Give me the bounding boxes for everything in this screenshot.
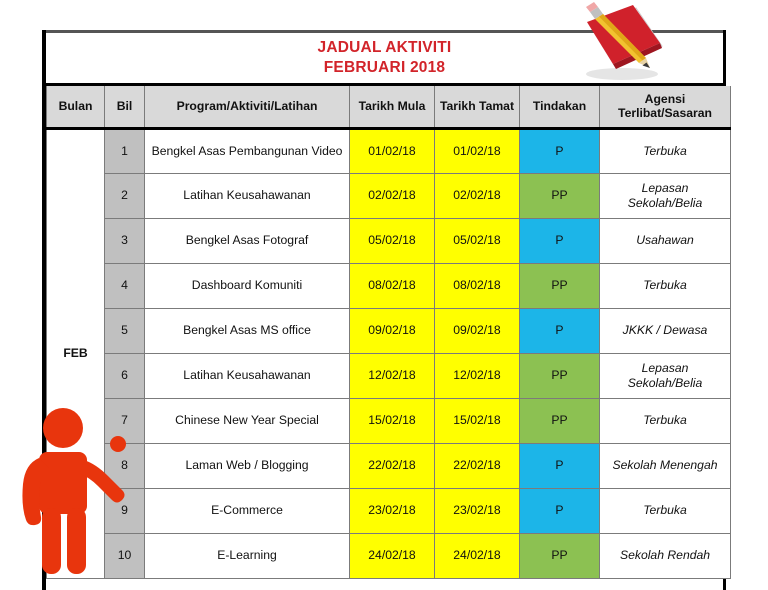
cell-tarikh-tamat: 02/02/18 — [435, 173, 520, 218]
cell-bil: 6 — [105, 353, 145, 398]
cell-tindakan: P — [520, 308, 600, 353]
cell-agensi: Terbuka — [600, 263, 731, 308]
cell-bulan-feb: FEB — [47, 128, 105, 578]
cell-bil: 1 — [105, 128, 145, 173]
cell-agensi: Sekolah Menengah — [600, 443, 731, 488]
cell-tindakan: PP — [520, 263, 600, 308]
cell-tarikh-tamat: 12/02/18 — [435, 353, 520, 398]
cell-bil: 4 — [105, 263, 145, 308]
cell-tindakan: PP — [520, 398, 600, 443]
schedule-table-frame: JADUAL AKTIVITI FEBRUARI 2018 Bulan Bil … — [42, 30, 726, 590]
cell-program: Bengkel Asas MS office — [145, 308, 350, 353]
schedule-table-body: FEB1Bengkel Asas Pembangunan Video01/02/… — [47, 128, 731, 578]
table-row[interactable]: 7Chinese New Year Special15/02/1815/02/1… — [47, 398, 731, 443]
cell-tarikh-mula: 01/02/18 — [350, 128, 435, 173]
cell-tindakan: P — [520, 218, 600, 263]
table-row[interactable]: 10E-Learning24/02/1824/02/18PPSekolah Re… — [47, 533, 731, 578]
page-title-line1: JADUAL AKTIVITI — [318, 39, 452, 57]
cell-program: Dashboard Komuniti — [145, 263, 350, 308]
cell-agensi: Terbuka — [600, 128, 731, 173]
column-header-tindakan: Tindakan — [520, 86, 600, 128]
cell-bil: 7 — [105, 398, 145, 443]
column-header-agensi-line2: Terlibat/Sasaran — [618, 106, 712, 120]
cell-tarikh-tamat: 08/02/18 — [435, 263, 520, 308]
table-row[interactable]: 8Laman Web / Blogging22/02/1822/02/18PSe… — [47, 443, 731, 488]
cell-tindakan: PP — [520, 173, 600, 218]
cell-tarikh-tamat: 22/02/18 — [435, 443, 520, 488]
column-header-bulan: Bulan — [47, 86, 105, 128]
cell-bil: 9 — [105, 488, 145, 533]
cell-tarikh-mula: 23/02/18 — [350, 488, 435, 533]
cell-program: E-Commerce — [145, 488, 350, 533]
cell-bil: 3 — [105, 218, 145, 263]
column-header-tarikh-mula: Tarikh Mula — [350, 86, 435, 128]
cell-tarikh-mula: 12/02/18 — [350, 353, 435, 398]
cell-program: E-Learning — [145, 533, 350, 578]
cell-agensi: Lepasan Sekolah/Belia — [600, 173, 731, 218]
cell-tindakan: P — [520, 128, 600, 173]
cell-program: Bengkel Asas Pembangunan Video — [145, 128, 350, 173]
cell-bil: 2 — [105, 173, 145, 218]
title-band: JADUAL AKTIVITI FEBRUARI 2018 — [46, 30, 723, 86]
cell-program: Chinese New Year Special — [145, 398, 350, 443]
cell-tindakan: PP — [520, 353, 600, 398]
cell-tarikh-mula: 09/02/18 — [350, 308, 435, 353]
cell-tarikh-mula: 24/02/18 — [350, 533, 435, 578]
cell-bil: 5 — [105, 308, 145, 353]
table-row[interactable]: 4Dashboard Komuniti08/02/1808/02/18PPTer… — [47, 263, 731, 308]
cell-agensi: Lepasan Sekolah/Belia — [600, 353, 731, 398]
cell-program: Latihan Keusahawanan — [145, 353, 350, 398]
column-header-tarikh-tamat: Tarikh Tamat — [435, 86, 520, 128]
cell-tindakan: P — [520, 443, 600, 488]
table-row[interactable]: 9E-Commerce23/02/1823/02/18PTerbuka — [47, 488, 731, 533]
cell-tarikh-mula: 02/02/18 — [350, 173, 435, 218]
table-row[interactable]: 6Latihan Keusahawanan12/02/1812/02/18PPL… — [47, 353, 731, 398]
cell-tarikh-mula: 22/02/18 — [350, 443, 435, 488]
cell-tindakan: P — [520, 488, 600, 533]
cell-tarikh-tamat: 09/02/18 — [435, 308, 520, 353]
cell-tarikh-mula: 08/02/18 — [350, 263, 435, 308]
column-header-bil: Bil — [105, 86, 145, 128]
cell-agensi: Sekolah Rendah — [600, 533, 731, 578]
column-header-agensi: Agensi Terlibat/Sasaran — [600, 86, 731, 128]
cell-agensi: Usahawan — [600, 218, 731, 263]
table-row[interactable]: 5Bengkel Asas MS office09/02/1809/02/18P… — [47, 308, 731, 353]
activity-schedule-table: Bulan Bil Program/Aktiviti/Latihan Tarik… — [46, 86, 731, 579]
table-row[interactable]: 3Bengkel Asas Fotograf05/02/1805/02/18PU… — [47, 218, 731, 263]
cell-program: Bengkel Asas Fotograf — [145, 218, 350, 263]
column-header-agensi-line1: Agensi — [645, 92, 686, 106]
cell-tarikh-tamat: 24/02/18 — [435, 533, 520, 578]
cell-tarikh-mula: 15/02/18 — [350, 398, 435, 443]
cell-program: Laman Web / Blogging — [145, 443, 350, 488]
cell-tarikh-tamat: 15/02/18 — [435, 398, 520, 443]
cell-tindakan: PP — [520, 533, 600, 578]
cell-agensi: Terbuka — [600, 398, 731, 443]
cell-agensi: Terbuka — [600, 488, 731, 533]
page-title-line2: FEBRUARI 2018 — [324, 59, 445, 77]
table-row[interactable]: FEB1Bengkel Asas Pembangunan Video01/02/… — [47, 128, 731, 173]
cell-tarikh-mula: 05/02/18 — [350, 218, 435, 263]
cell-bil: 8 — [105, 443, 145, 488]
cell-tarikh-tamat: 05/02/18 — [435, 218, 520, 263]
cell-tarikh-tamat: 01/02/18 — [435, 128, 520, 173]
table-header-row: Bulan Bil Program/Aktiviti/Latihan Tarik… — [47, 86, 731, 128]
cell-agensi: JKKK / Dewasa — [600, 308, 731, 353]
table-row[interactable]: 2Latihan Keusahawanan02/02/1802/02/18PPL… — [47, 173, 731, 218]
cell-tarikh-tamat: 23/02/18 — [435, 488, 520, 533]
cell-program: Latihan Keusahawanan — [145, 173, 350, 218]
cell-bil: 10 — [105, 533, 145, 578]
column-header-program: Program/Aktiviti/Latihan — [145, 86, 350, 128]
